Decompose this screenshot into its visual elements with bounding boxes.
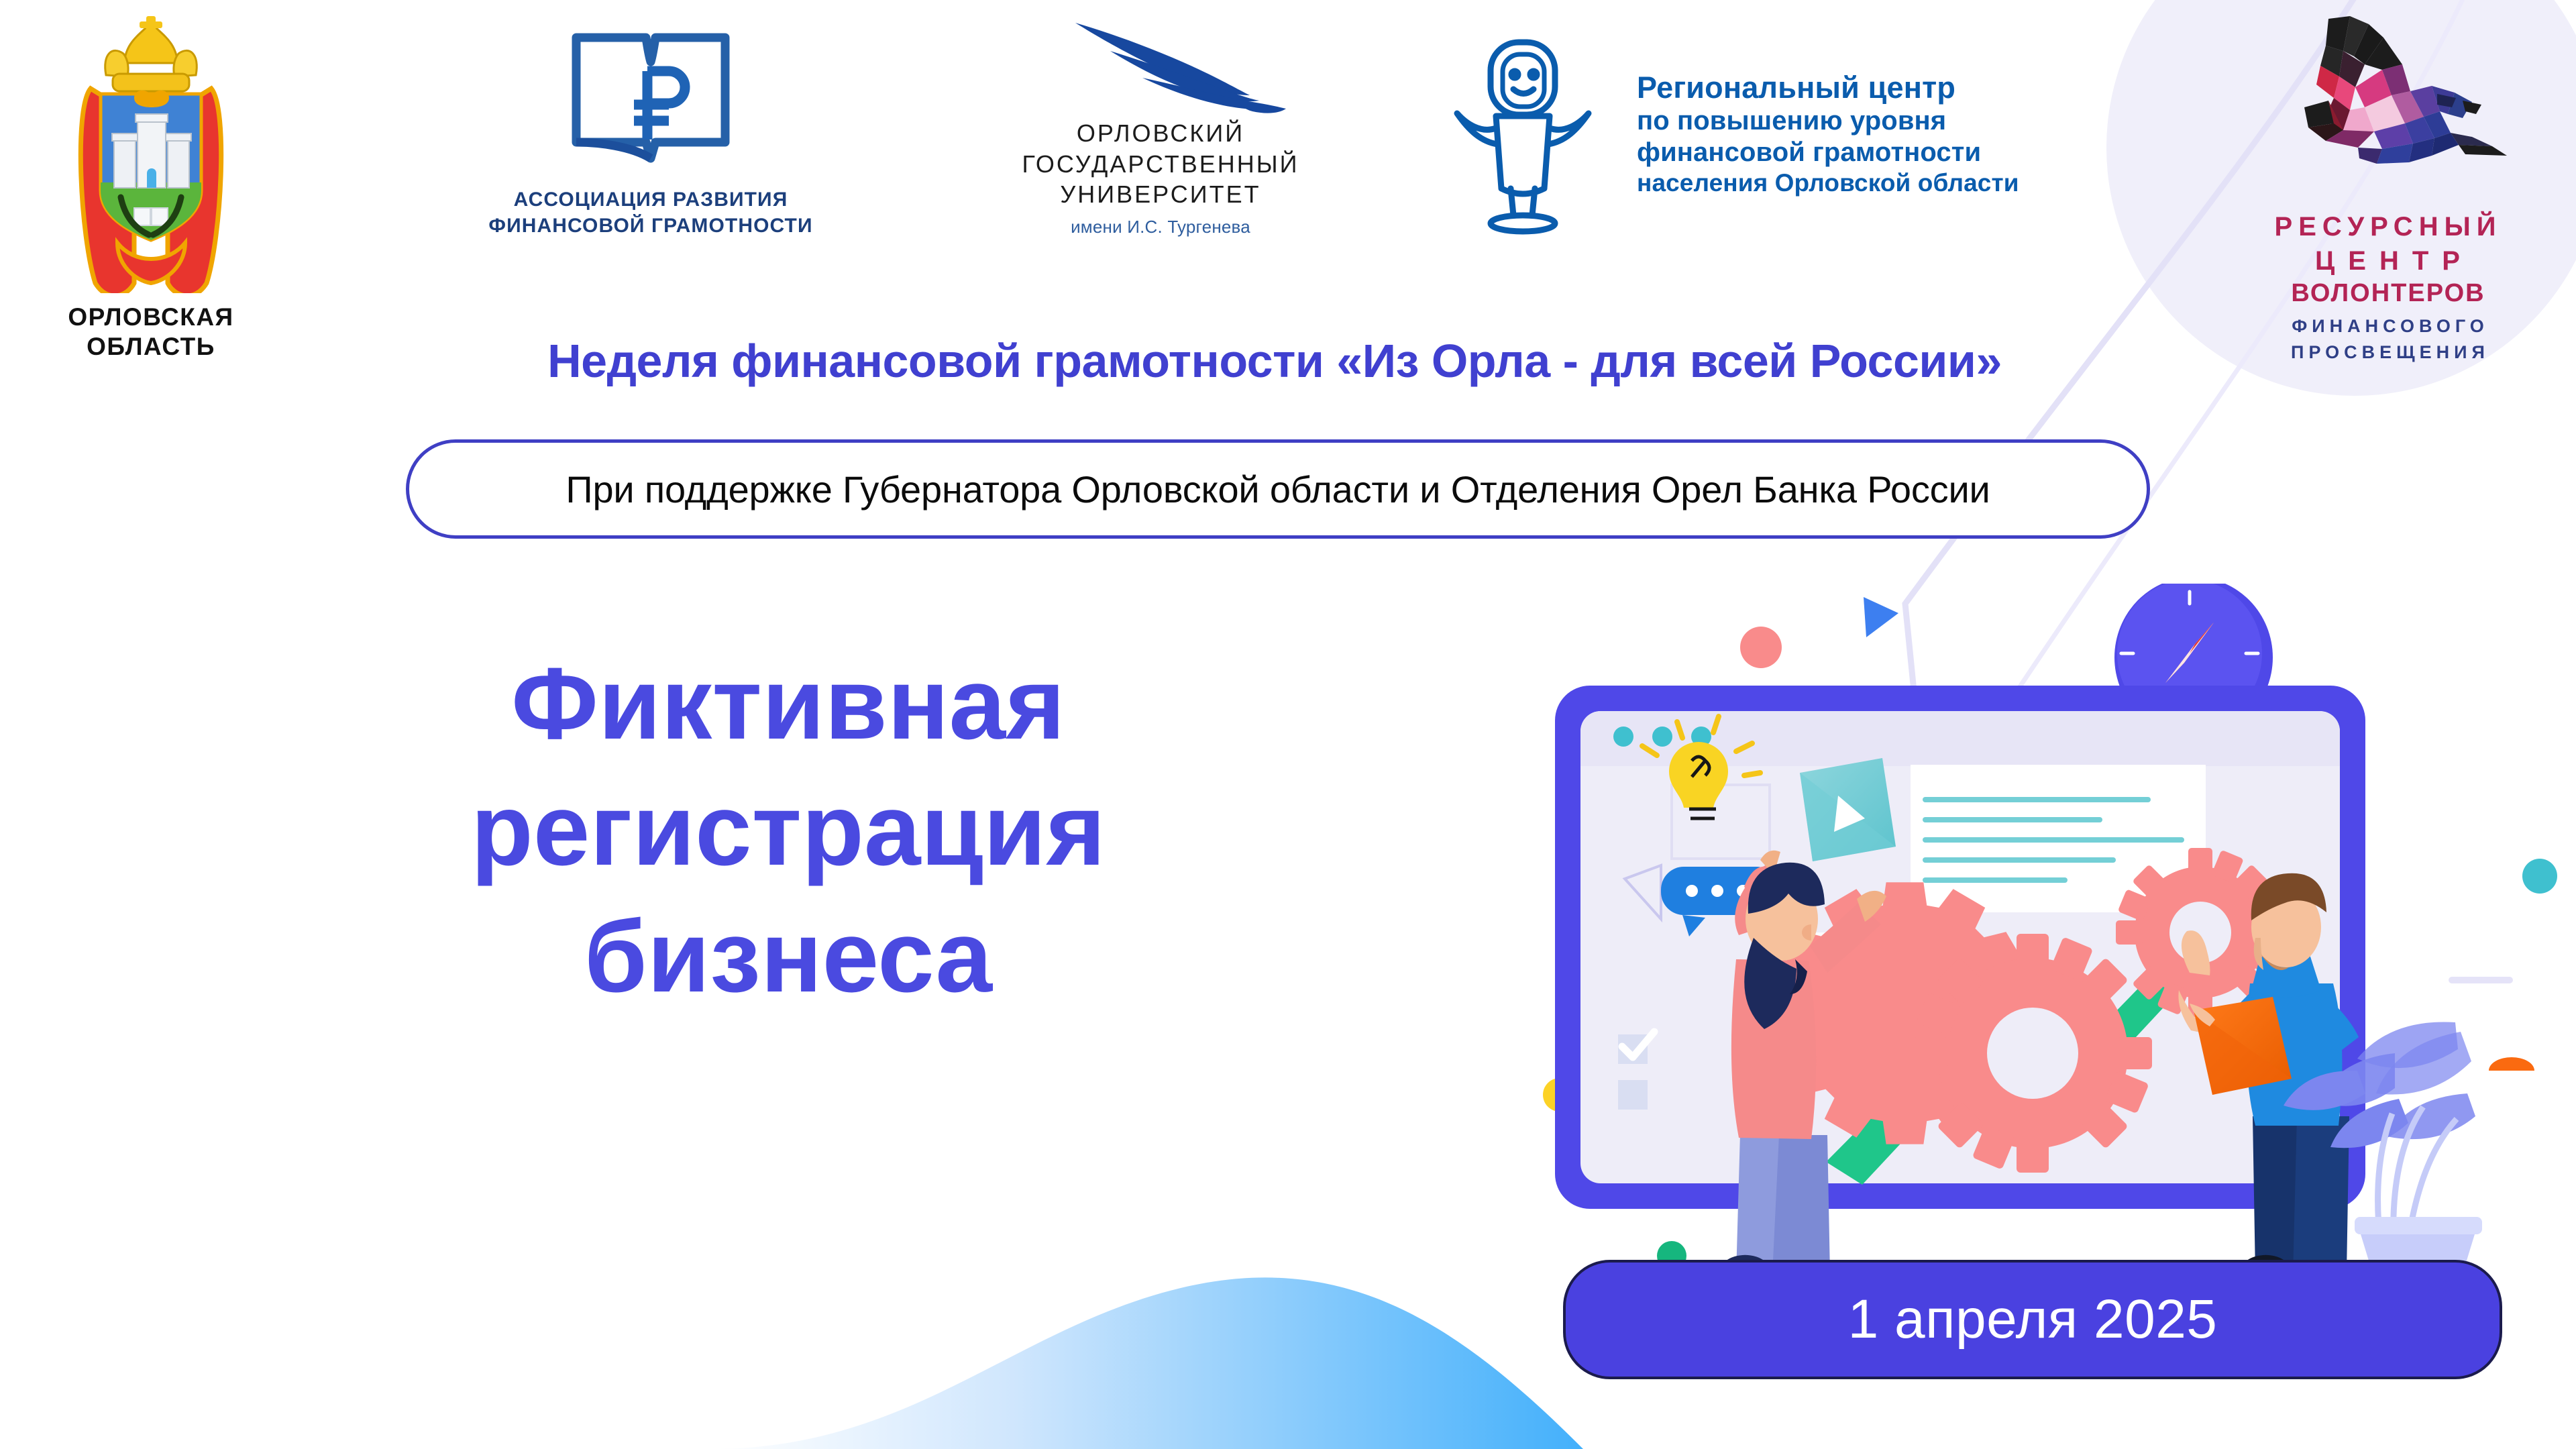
volunteer-line2: ЦЕНТР bbox=[2303, 246, 2473, 276]
arfg-caption-line2: ФИНАНСОВОЙ ГРАМОТНОСТИ bbox=[488, 213, 812, 239]
oblast-caption-line2: ОБЛАСТЬ bbox=[68, 332, 233, 362]
logo-arfg: АССОЦИАЦИЯ РАЗВИТИЯ ФИНАНСОВОЙ ГРАМОТНОС… bbox=[470, 27, 832, 239]
robot-mascot-icon bbox=[1449, 30, 1617, 238]
accent-dot-pink bbox=[1740, 627, 1782, 668]
volunteer-line1: РЕСУРСНЫЙ bbox=[2275, 212, 2502, 242]
accent-halfdisc-orange bbox=[2489, 1057, 2534, 1071]
oblast-caption-line1: ОРЛОВСКАЯ bbox=[68, 303, 233, 332]
logo-volunteer-center: РЕСУРСНЫЙ ЦЕНТР ВОЛОНТЕРОВ ФИНАНСОВОГО П… bbox=[2227, 12, 2549, 363]
ogu-caption-line1: ОРЛОВСКИЙ bbox=[1022, 118, 1299, 149]
accent-dot-teal-right bbox=[2522, 859, 2557, 894]
headline-line3: бизнеса bbox=[201, 894, 1375, 1020]
support-banner: При поддержке Губернатора Орловской обла… bbox=[406, 439, 2150, 539]
date-badge-label: 1 апреля 2025 bbox=[1848, 1288, 2218, 1351]
eagle-wing-icon bbox=[1070, 20, 1291, 114]
arfg-caption-line1: АССОЦИАЦИЯ РАЗВИТИЯ bbox=[488, 186, 812, 213]
ogu-caption: ОРЛОВСКИЙ ГОСУДАРСТВЕННЫЙ УНИВЕРСИТЕТ bbox=[1022, 118, 1299, 210]
regional-center-line1: Региональный центр bbox=[1637, 70, 2019, 105]
arfg-caption: АССОЦИАЦИЯ РАЗВИТИЯ ФИНАНСОВОЙ ГРАМОТНОС… bbox=[488, 186, 812, 239]
regional-center-text: Региональный центр по повышению уровня ф… bbox=[1637, 70, 2019, 197]
volunteer-line4: ФИНАНСОВОГО bbox=[2288, 316, 2489, 337]
date-badge[interactable]: 1 апреля 2025 bbox=[1563, 1260, 2502, 1379]
background-bottom-wave bbox=[711, 1248, 1664, 1449]
headline-line2: регистрация bbox=[201, 767, 1375, 893]
ogu-caption-line3: УНИВЕРСИТЕТ bbox=[1022, 179, 1299, 210]
business-teamwork-illustration bbox=[1523, 584, 2576, 1275]
oblast-caption: ОРЛОВСКАЯ ОБЛАСТЬ bbox=[68, 303, 233, 361]
sponsor-logo-strip: ОРЛОВСКАЯ ОБЛАСТЬ АССОЦИАЦИЯ РАЗВИТИЯ ФИ… bbox=[0, 0, 2576, 496]
page-title: Фиктивная регистрация бизнеса bbox=[201, 641, 1375, 1020]
event-title: Неделя финансовой грамотности «Из Орла -… bbox=[309, 334, 2241, 388]
browser-dot-2 bbox=[1652, 727, 1672, 747]
volunteer-line5: ПРОСВЕЩЕНИЯ bbox=[2287, 342, 2489, 363]
accent-line-lavender bbox=[2449, 977, 2513, 983]
ogu-subtitle: имени И.С. Тургенева bbox=[1071, 217, 1250, 237]
gear-big bbox=[1913, 934, 2152, 1173]
open-book-ruble-icon bbox=[567, 27, 735, 174]
logo-orlovskaya-oblast: ОРЛОВСКАЯ ОБЛАСТЬ bbox=[37, 15, 265, 361]
regional-center-line3: финансовой грамотности bbox=[1637, 137, 2019, 168]
orlovskaya-oblast-coat-of-arms-icon bbox=[54, 15, 248, 293]
poster-canvas: ОРЛОВСКАЯ ОБЛАСТЬ АССОЦИАЦИЯ РАЗВИТИЯ ФИ… bbox=[0, 0, 2576, 1449]
volunteer-line3: ВОЛОНТЕРОВ bbox=[2291, 279, 2485, 308]
regional-center-line4: населения Орловской области bbox=[1637, 168, 2019, 198]
browser-dot-1 bbox=[1613, 727, 1633, 747]
regional-center-line2: по повышению уровня bbox=[1637, 105, 2019, 137]
support-banner-text: При поддержке Губернатора Орловской обла… bbox=[566, 468, 1990, 511]
headline-line1: Фиктивная bbox=[201, 641, 1375, 767]
logo-regional-center: Региональный центр по повышению уровня ф… bbox=[1449, 30, 2019, 238]
logo-ogu: ОРЛОВСКИЙ ГОСУДАРСТВЕННЫЙ УНИВЕРСИТЕТ им… bbox=[953, 20, 1368, 237]
envelope-card bbox=[1800, 758, 1896, 861]
polygonal-eagle-icon bbox=[2264, 12, 2512, 207]
ogu-caption-line2: ГОСУДАРСТВЕННЫЙ bbox=[1022, 149, 1299, 180]
accent-triangle-blue bbox=[1864, 597, 1898, 637]
